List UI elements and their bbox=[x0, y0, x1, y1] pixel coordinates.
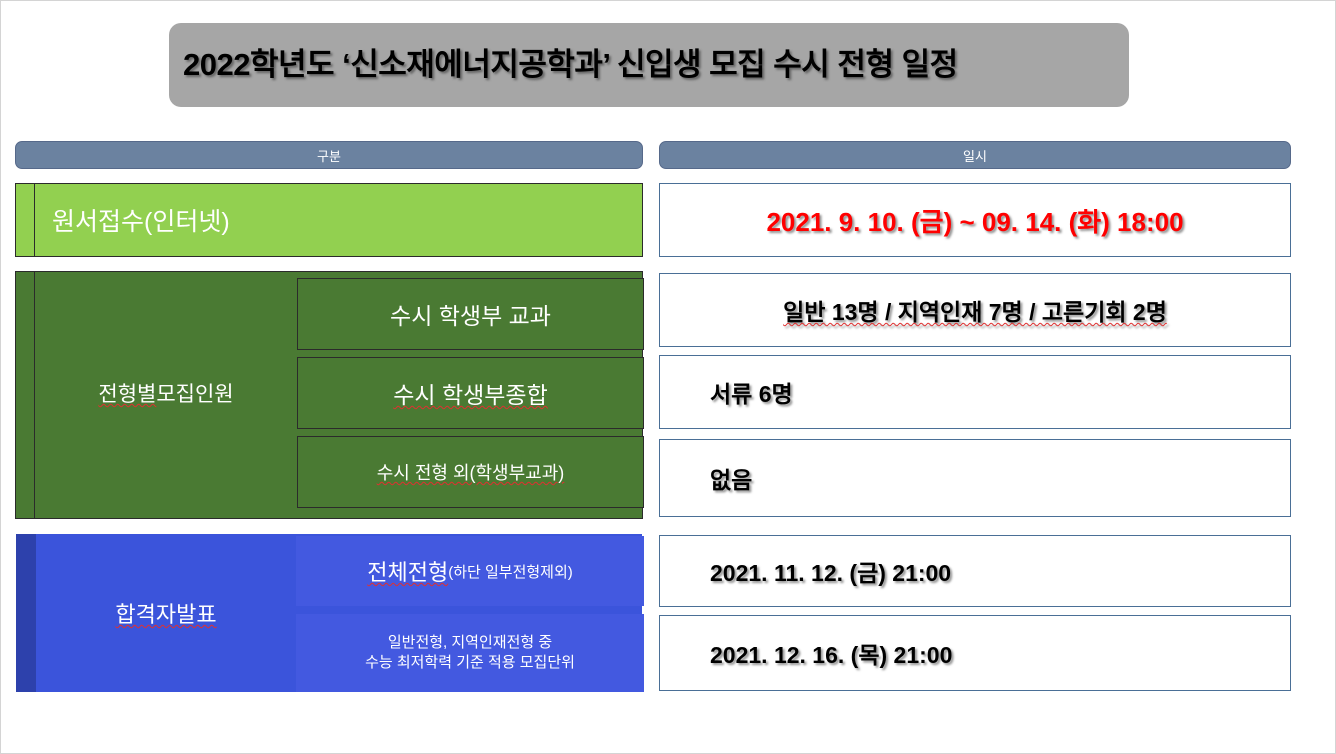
row-announcement-category: 합격자발표 bbox=[36, 534, 296, 692]
column-header-category: 구분 bbox=[15, 141, 643, 169]
subrow-susi-etc-label: 수시 전형 외(학생부교과) bbox=[377, 459, 565, 485]
slide-page: 2022학년도 ‘신소재에너지공학과’ 신입생 모집 수시 전형 일정 구분 일… bbox=[0, 0, 1336, 754]
subrow-susi-etc: 수시 전형 외(학생부교과) bbox=[297, 436, 644, 508]
subrow-minimum-score-value: 2021. 12. 16. (목) 21:00 bbox=[710, 636, 952, 670]
row-quota-category: 전형별 모집인원 bbox=[35, 272, 297, 518]
row-application-label: 원서접수(인터넷) bbox=[52, 202, 230, 238]
row-application-date: 2021. 9. 10. (금) ~ 09. 14. (화) 18:00 bbox=[659, 183, 1291, 257]
subrow-susi-jonghap-label: 수시 학생부종합 bbox=[393, 376, 548, 410]
row-quota-category-line1: 전형별 bbox=[98, 381, 156, 409]
column-header-datetime-label: 일시 bbox=[963, 146, 987, 165]
row-application-divider bbox=[34, 184, 35, 256]
row-announcement-category-label: 합격자발표 bbox=[115, 597, 216, 629]
subrow-susi-etc-value-cell: 없음 bbox=[659, 439, 1291, 517]
column-header-datetime: 일시 bbox=[659, 141, 1291, 169]
row-announcement-block: 합격자발표 전체전형(하단 일부전형제외) 일반전형, 지역인재전형 중 수능 … bbox=[15, 533, 643, 693]
subrow-all-types-label-sub: (하단 일부전형제외) bbox=[448, 561, 573, 582]
subrow-susi-gyogwa-value: 일반 13명 / 지역인재 7명 / 고른기회 2명 bbox=[783, 293, 1167, 327]
column-header-category-label: 구분 bbox=[317, 146, 341, 165]
page-title-box: 2022학년도 ‘신소재에너지공학과’ 신입생 모집 수시 전형 일정 bbox=[169, 23, 1129, 107]
row-application-date-value: 2021. 9. 10. (금) ~ 09. 14. (화) 18:00 bbox=[766, 202, 1183, 239]
subrow-all-types: 전체전형(하단 일부전형제외) bbox=[296, 536, 644, 606]
row-announcement-strip bbox=[16, 534, 36, 692]
subrow-minimum-score-line2: 수능 최저학력 기준 적용 모집단위 bbox=[365, 654, 575, 671]
subrow-susi-gyogwa-value-cell: 일반 13명 / 지역인재 7명 / 고른기회 2명 bbox=[659, 273, 1291, 347]
subrow-susi-jonghap-value: 서류 6명 bbox=[710, 375, 793, 409]
subrow-minimum-score: 일반전형, 지역인재전형 중 수능 최저학력 기준 적용 모집단위 bbox=[296, 614, 644, 692]
row-quota-category-line2: 모집인원 bbox=[156, 381, 233, 409]
page-title: 2022학년도 ‘신소재에너지공학과’ 신입생 모집 수시 전형 일정 bbox=[183, 39, 958, 84]
subrow-susi-gyogwa-label: 수시 학생부 교과 bbox=[390, 297, 551, 331]
subrow-all-types-value-cell: 2021. 11. 12. (금) 21:00 bbox=[659, 535, 1291, 607]
subrow-minimum-score-value-cell: 2021. 12. 16. (목) 21:00 bbox=[659, 615, 1291, 691]
subrow-susi-gyogwa: 수시 학생부 교과 bbox=[297, 278, 644, 350]
row-application-category: 원서접수(인터넷) bbox=[15, 183, 643, 257]
subrow-susi-etc-value: 없음 bbox=[710, 461, 752, 495]
row-quota-block: 전형별 모집인원 수시 학생부 교과 수시 학생부종합 수시 전형 외(학생부교… bbox=[15, 271, 643, 519]
subrow-all-types-value: 2021. 11. 12. (금) 21:00 bbox=[710, 554, 951, 588]
subrow-susi-jonghap-value-cell: 서류 6명 bbox=[659, 355, 1291, 429]
subrow-susi-jonghap: 수시 학생부종합 bbox=[297, 357, 644, 429]
subrow-minimum-score-line1: 일반전형, 지역인재전형 중 bbox=[388, 634, 552, 651]
subrow-all-types-label-main: 전체전형 bbox=[367, 555, 448, 587]
